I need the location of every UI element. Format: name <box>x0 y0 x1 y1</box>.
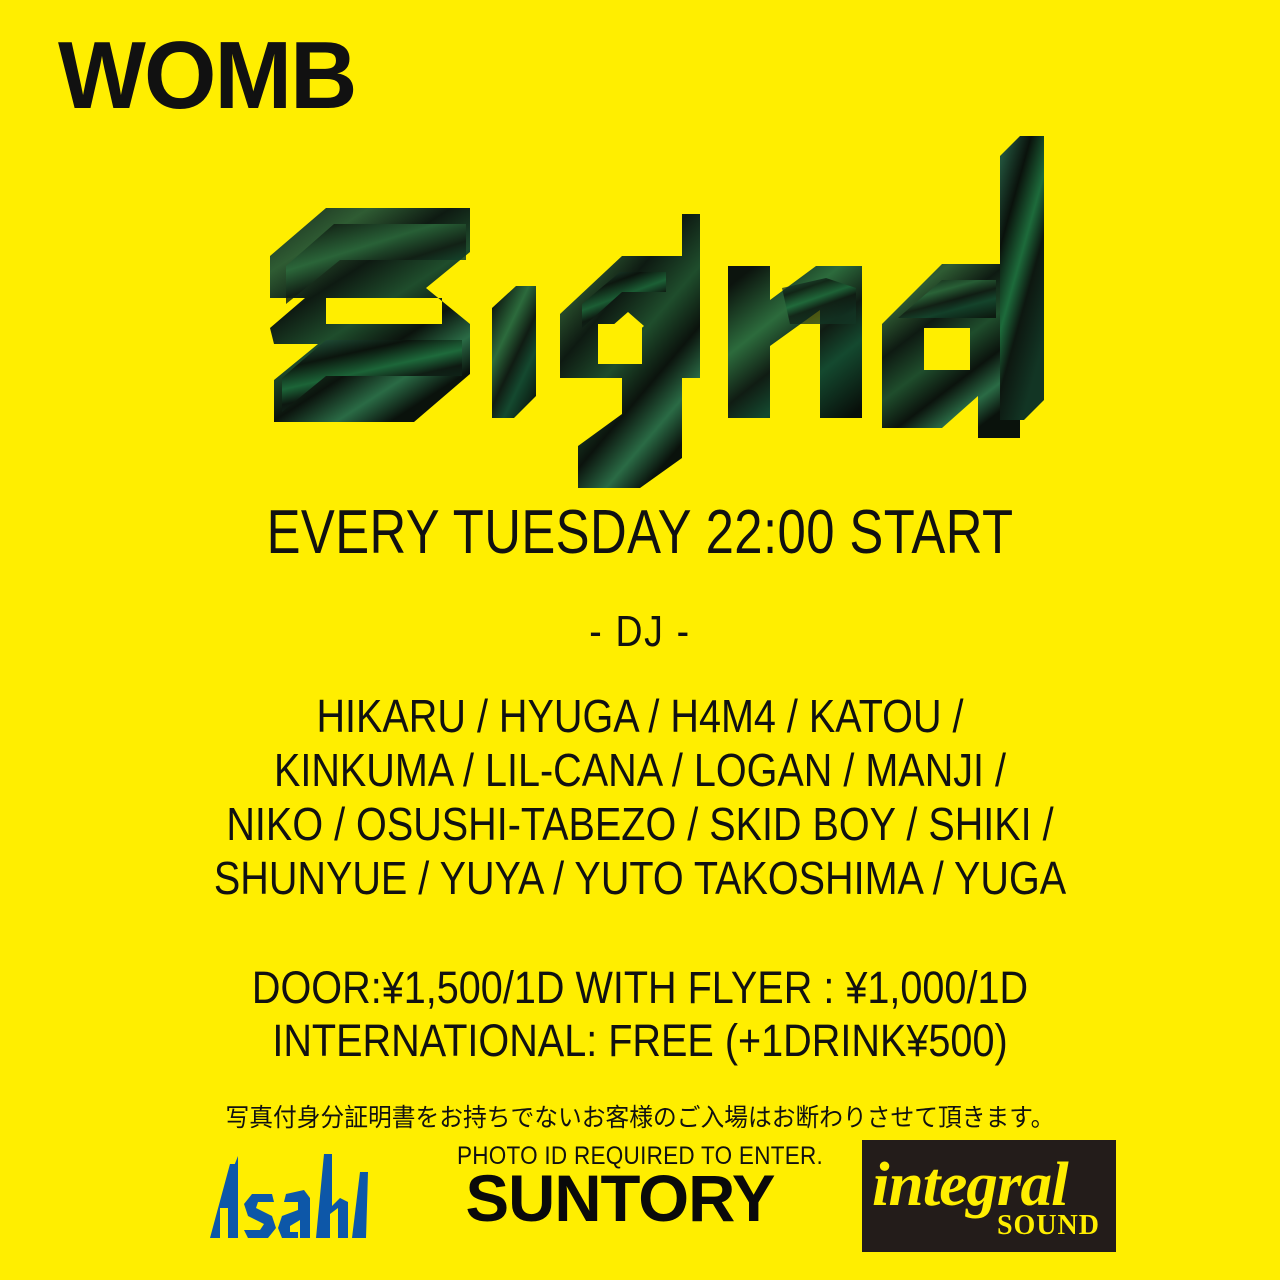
venue-logo-womb: WOMB <box>58 28 355 124</box>
dj-lineup-list: HIKARU / HYUGA / H4M4 / KATOU / KINKUMA … <box>0 689 1280 905</box>
signal-letter-l <box>1000 136 1044 420</box>
dj-lineup-line: HIKARU / HYUGA / H4M4 / KATOU / <box>90 689 1191 743</box>
dj-section-label: - DJ - <box>96 609 1184 655</box>
pricing-line-international: INTERNATIONAL: FREE (+1DRINK¥500) <box>77 1014 1203 1067</box>
sponsor-suntory: SUNTORY <box>455 1158 785 1238</box>
sponsor-asahi <box>186 1146 386 1246</box>
entry-notice-japanese: 写真付身分証明書をお持ちでないお客様のご入場はお断わりさせて頂きます。 <box>32 1103 1248 1134</box>
sponsor-logos: SUNTORY integral SOUND <box>0 1140 1280 1260</box>
signal-logo <box>0 128 1280 488</box>
integral-logo-box: integral SOUND <box>862 1140 1116 1252</box>
pricing-block: DOOR:¥1,500/1D WITH FLYER : ¥1,000/1D IN… <box>0 961 1280 1067</box>
signal-letter-i <box>492 286 536 418</box>
integral-logo-name: integral <box>872 1154 1068 1216</box>
signal-letter-g <box>560 214 700 488</box>
suntory-logo-text: SUNTORY <box>466 1160 775 1236</box>
sponsor-integral-sound: integral SOUND <box>862 1140 1116 1252</box>
integral-logo-sound: SOUND <box>997 1212 1100 1240</box>
dj-lineup-line: KINKUMA / LIL-CANA / LOGAN / MANJI / <box>90 743 1191 797</box>
dj-lineup-line: SHUNYUE / YUYA / YUTO TAKOSHIMA / YUGA <box>90 851 1191 905</box>
schedule-headline: EVERY TUESDAY 22:00 START <box>115 500 1165 567</box>
event-flyer: WOMB <box>0 0 1280 1280</box>
event-info: EVERY TUESDAY 22:00 START - DJ - HIKARU … <box>0 500 1280 1171</box>
signal-logo-artwork <box>230 128 1050 488</box>
dj-lineup-line: NIKO / OSUSHI-TABEZO / SKID BOY / SHIKI … <box>90 797 1191 851</box>
asahi-logo-icon <box>186 1146 386 1246</box>
pricing-line-door: DOOR:¥1,500/1D WITH FLYER : ¥1,000/1D <box>77 961 1203 1014</box>
